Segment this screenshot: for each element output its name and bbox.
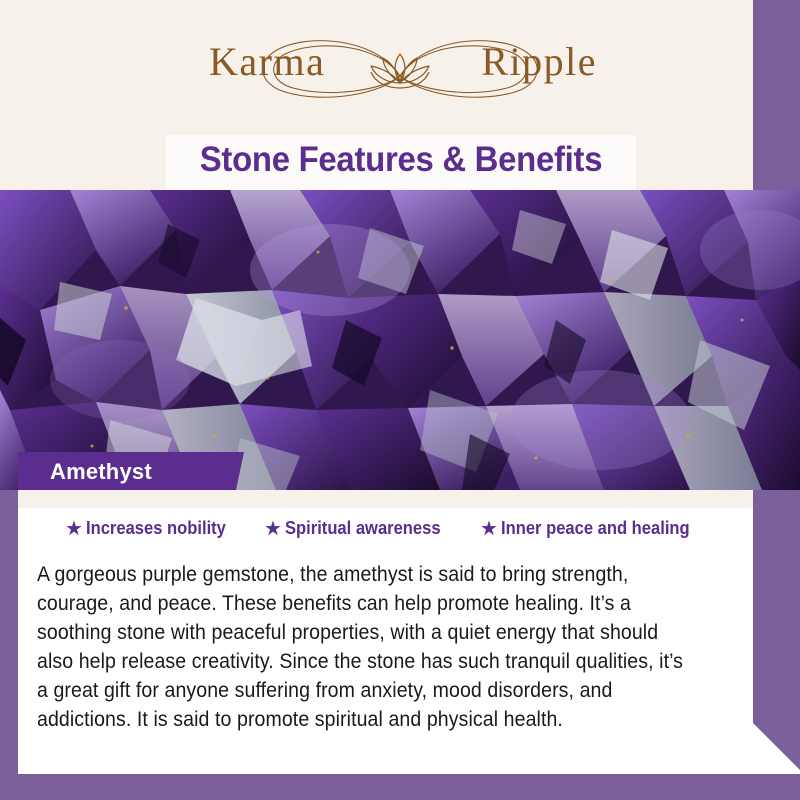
bottom-accent-band <box>0 774 800 800</box>
brand-word-karma: Karma <box>209 42 325 82</box>
star-icon: ★ <box>65 519 83 539</box>
stone-description: A gorgeous purple gemstone, the amethyst… <box>37 560 697 734</box>
amethyst-photo <box>0 190 800 490</box>
content-top-strip <box>18 490 753 508</box>
left-accent-band <box>0 487 18 777</box>
benefit-label: Spiritual awareness <box>285 518 441 539</box>
brand-word-ripple: Ripple <box>481 42 597 82</box>
benefit-item: ★ Spiritual awareness <box>264 518 454 539</box>
stone-name-label: Amethyst <box>50 459 152 485</box>
benefit-item: ★ Increases nobility <box>65 518 238 539</box>
product-info-poster: Karma Ripple Stone Features & Benefits <box>0 0 800 800</box>
star-icon: ★ <box>264 519 282 539</box>
page-title: Stone Features & Benefits <box>180 140 622 180</box>
brand-logo: Karma Ripple <box>185 28 615 114</box>
star-icon: ★ <box>480 519 498 539</box>
benefits-list: ★ Increases nobility ★ Spiritual awarene… <box>18 518 753 539</box>
benefit-label: Inner peace and healing <box>501 518 690 539</box>
benefit-label: Increases nobility <box>86 518 226 539</box>
lotus-flower-icon <box>371 54 429 88</box>
benefit-item: ★ Inner peace and healing <box>480 518 706 539</box>
